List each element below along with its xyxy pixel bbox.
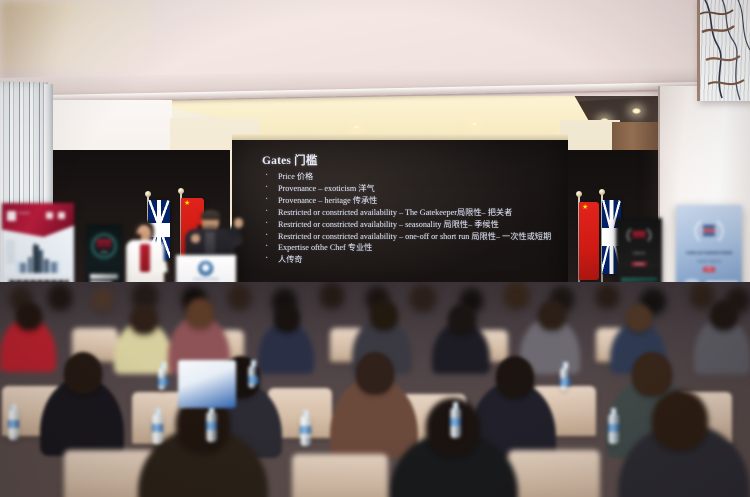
- forum-emblem-icon: [198, 261, 213, 276]
- podium-logo: CHINA-UK FORUM: [193, 261, 219, 281]
- slide-bullet: Expertise ofthe Chef 专业性: [262, 242, 562, 253]
- banner-text: CHINA-UK: [620, 252, 658, 256]
- slide-content: Gates 门槛 Price 价格 Provenance – exoticism…: [262, 152, 562, 266]
- water-bottle: [248, 366, 256, 388]
- downlight-icon: [470, 121, 479, 127]
- laurel-wreath-icon: [692, 219, 726, 243]
- banner-logo-icon: [7, 211, 16, 221]
- mic-hand: [191, 234, 200, 243]
- tote-bag: [178, 360, 236, 408]
- water-bottle: [152, 414, 163, 444]
- slide-bullet-list: Price 价格 Provenance – exoticism 洋气 Prove…: [262, 171, 562, 266]
- slide-bullet: Provenance – heritage 传承性: [262, 195, 562, 206]
- banner-red-label: FORUM: [632, 262, 647, 266]
- slide-bullet: Price 价格: [262, 171, 562, 182]
- water-bottle: [560, 368, 568, 390]
- shirt-front: [205, 232, 215, 254]
- banner-badge: [633, 231, 646, 238]
- water-bottle: [608, 414, 619, 444]
- inner-garment: [140, 244, 150, 272]
- banner-square-icon: [58, 212, 65, 219]
- slide-bullet: Restricted or constricted availability –…: [262, 219, 562, 230]
- water-bottle: [450, 408, 461, 438]
- banner-subtitle: 中英时尚产业国际论坛: [676, 260, 742, 263]
- banner-bar: [90, 274, 118, 279]
- hair: [201, 210, 220, 220]
- banner-title: CHINA-UK FASHION FORUM: [676, 251, 742, 255]
- conference-photo: Gates 门槛 Price 价格 Provenance – exoticism…: [0, 0, 750, 497]
- slide-bullet: Restricted or constricted availability –…: [262, 207, 562, 218]
- banner-date-badge: 2018: [703, 267, 715, 272]
- podium-caption: CHINA-UK FORUM: [193, 278, 219, 281]
- held-papers: [152, 261, 167, 274]
- slide-title: Gates 门槛: [262, 152, 562, 168]
- downlight-icon: [352, 124, 361, 130]
- slide-bullet: 人传奇: [262, 254, 562, 265]
- cityscape-illustration-icon: [16, 243, 60, 273]
- china-flag: [579, 202, 599, 280]
- banner-square-icon: [46, 212, 53, 219]
- audience-area: [0, 282, 750, 497]
- water-bottle: [158, 368, 166, 390]
- slide-bullet: Provenance – exoticism 洋气: [262, 183, 562, 194]
- decorative-art-panel: [697, 0, 750, 101]
- downlight-icon: [632, 108, 641, 114]
- water-bottle: [206, 412, 217, 442]
- banner-body-lines: [6, 241, 15, 265]
- raised-hand: [234, 218, 243, 228]
- water-bottle: [8, 410, 19, 440]
- banner-year: 2018: [101, 250, 108, 254]
- banner-badge: [97, 239, 112, 248]
- banner-logo-text: FORUM: [18, 212, 30, 216]
- water-bottle: [300, 416, 311, 446]
- slide-bullet: Restricted or constricted availability –…: [262, 231, 562, 242]
